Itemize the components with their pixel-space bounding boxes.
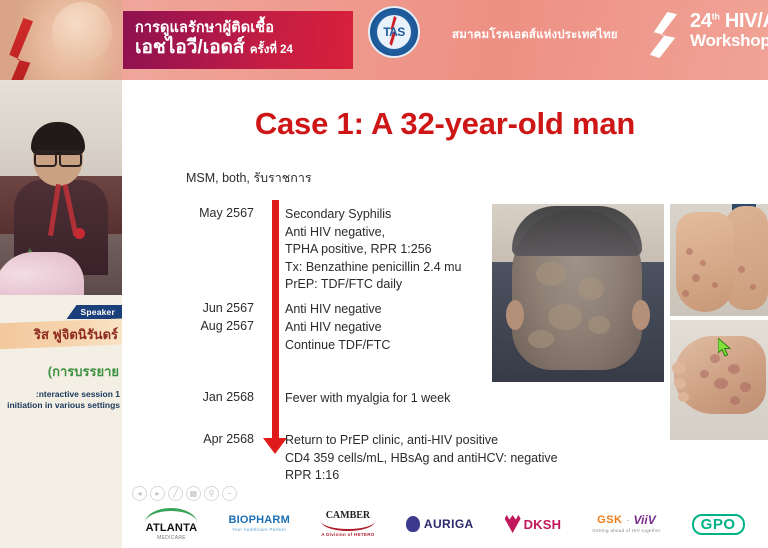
- cursor-arrow-icon: [718, 338, 734, 358]
- workshop-ordinal: th: [712, 11, 720, 21]
- alopecia-patch: [536, 262, 566, 286]
- toe: [674, 378, 686, 389]
- gsk-separator-icon: ·: [627, 516, 630, 525]
- scalp-alopecia-photo: [492, 204, 664, 382]
- timeline-body: Fever with myalgia for 1 week: [285, 390, 450, 408]
- auriga-logo: AURIGA: [406, 516, 474, 532]
- pen-tool-button[interactable]: ╱: [168, 486, 183, 501]
- camber-arc-icon: [321, 521, 375, 531]
- red-ribbon-icon: [4, 18, 48, 80]
- rash-spot: [700, 260, 706, 266]
- speaker-photo-flowers: [0, 252, 84, 295]
- dksh-logo: DKSH: [505, 515, 562, 533]
- palmar-rash-photo: [670, 204, 768, 316]
- auriga-name: AURIGA: [424, 518, 474, 530]
- timeline-date: Jun 2567: [122, 301, 254, 315]
- gsk-name: GSK: [597, 515, 622, 526]
- alopecia-patch: [578, 278, 604, 300]
- tas-logo-text: TAS: [383, 25, 405, 39]
- event-title-line2: เอชไอวี/เอดส์ ครั้งที่ 24: [135, 37, 353, 60]
- gsk-viiv-row: GSK · ViiV: [597, 514, 656, 526]
- rash-spot: [712, 282, 718, 288]
- event-title-line2-text: เอชไอวี/เอดส์: [135, 37, 245, 58]
- sponsor-bar: ATLANTA MEDICARE BIOPHARM Your healthcar…: [122, 500, 768, 548]
- rash-spot: [740, 382, 751, 392]
- gpo-name: GPO: [701, 517, 736, 532]
- timeline-body: Anti HIV negative: [285, 301, 382, 319]
- viiv-name: ViiV: [634, 514, 656, 526]
- rash-spot: [714, 378, 728, 389]
- timeline-arrow-icon: [263, 438, 287, 454]
- alopecia-patch: [548, 304, 582, 330]
- session-line-1: nteractive session 1:: [0, 389, 122, 399]
- biopharm-sub: Your healthcare Partner: [232, 528, 286, 533]
- rash-spot: [728, 364, 740, 374]
- more-options-button[interactable]: −: [222, 486, 237, 501]
- workshop-ribbon-icon: [648, 12, 692, 58]
- biopharm-name: BIOPHARM: [228, 515, 290, 526]
- biopharm-logo: BIOPHARM Your healthcare Partner: [228, 515, 290, 533]
- rash-spot: [682, 290, 689, 297]
- gsk-viiv-logo: GSK · ViiV Getting ahead of HIV together: [592, 514, 661, 534]
- timeline-date: May 2567: [122, 206, 254, 220]
- hair-region: [512, 206, 642, 256]
- ear-right: [632, 300, 650, 330]
- session-line-2: initiation in various settings: [0, 400, 122, 410]
- alopecia-patch: [528, 330, 554, 348]
- speaker-name: ริส ฟูจิตนิรันดร์: [0, 324, 122, 345]
- association-name: สมาคมโรคเอดส์แห่งประเทศไทย: [452, 26, 618, 44]
- zoom-button[interactable]: ⚲: [204, 486, 219, 501]
- timeline-body: Anti HIV negative Continue TDF/FTC: [285, 319, 390, 354]
- atlanta-medicare-logo: ATLANTA MEDICARE: [145, 508, 197, 541]
- next-slide-button[interactable]: ▸: [150, 486, 165, 501]
- rash-spot: [738, 266, 745, 273]
- event-banner: การดูแลรักษาผู้ติดเชื้อ เอชไอวี/เอดส์ คร…: [0, 0, 768, 80]
- atlanta-sub: MEDICARE: [157, 536, 186, 541]
- alopecia-patch: [588, 316, 610, 334]
- rash-spot: [730, 396, 740, 405]
- toe: [678, 392, 689, 402]
- speaker-photo: [0, 80, 122, 295]
- rash-spot: [700, 370, 709, 378]
- timeline-body: Secondary Syphilis Anti HIV negative, TP…: [285, 206, 461, 294]
- ear-left: [506, 300, 524, 330]
- gsk-tagline: Getting ahead of HIV together: [592, 529, 661, 534]
- previous-slide-button[interactable]: ◂: [132, 486, 147, 501]
- camber-sub: A Division of HETERO: [321, 533, 374, 538]
- slide-title: Case 1: A 32-year-old man: [122, 106, 768, 142]
- tas-logo-inner: TAS: [377, 15, 411, 49]
- speaker-info-card: Speaker ริส ฟูจิตนิรันดร์ การบรรยาย) nte…: [0, 305, 122, 425]
- camber-name: CAMBER: [326, 511, 370, 521]
- timeline-date: Apr 2568: [122, 432, 254, 446]
- toe: [672, 362, 686, 374]
- event-title-box: การดูแลรักษาผู้ติดเชื้อ เอชไอวี/เอดส์ คร…: [123, 11, 353, 69]
- presentation-slide[interactable]: Case 1: A 32-year-old man MSM, both, รับ…: [122, 88, 768, 500]
- patient-summary: MSM, both, รับราชการ: [186, 168, 312, 188]
- speaker-ribbon-pin: [74, 228, 85, 239]
- all-slides-button[interactable]: ▦: [186, 486, 201, 501]
- speaker-badge: Speaker: [67, 305, 122, 319]
- auriga-glyph-icon: [406, 516, 420, 532]
- gpo-logo: GPO: [692, 514, 745, 535]
- timeline-date: Jan 2568: [122, 390, 254, 404]
- screen: การดูแลรักษาผู้ติดเชื้อ เอชไอวี/เอดส์ คร…: [0, 0, 768, 548]
- camber-logo: CAMBER A Division of HETERO: [321, 511, 375, 538]
- workshop-number: 24: [690, 10, 712, 32]
- workshop-title-line1: 24th HIV/A: [690, 10, 768, 33]
- workshop-line1-text: HIV/A: [725, 10, 768, 32]
- timeline-body: Return to PrEP clinic, anti-HIV positive…: [285, 432, 558, 485]
- workshop-title-line2: Workshop: [690, 31, 768, 51]
- speaker-panel: Speaker ริส ฟูจิตนิรันดร์ การบรรยาย) nte…: [0, 80, 122, 548]
- tas-logo: TAS: [368, 6, 420, 58]
- dksh-fan-icon: [505, 515, 521, 533]
- event-title-edition: ครั้งที่ 24: [250, 44, 293, 56]
- glasses-icon: [34, 150, 82, 163]
- workshop-logo: 24th HIV/A Workshop: [648, 4, 768, 64]
- atlanta-name: ATLANTA: [146, 523, 198, 534]
- rash-spot: [692, 274, 700, 282]
- rash-spot: [750, 284, 756, 290]
- speaker-subtitle: การบรรยาย): [0, 361, 122, 382]
- atlanta-arc-icon: [145, 508, 197, 523]
- event-title-line1: การดูแลรักษาผู้ติดเชื้อ: [135, 20, 353, 37]
- timeline-bar: [272, 200, 279, 440]
- rash-spot: [686, 248, 693, 255]
- dksh-name: DKSH: [524, 518, 562, 531]
- timeline-date: Aug 2567: [122, 319, 254, 333]
- presentation-controls[interactable]: ◂ ▸ ╱ ▦ ⚲ −: [132, 486, 237, 501]
